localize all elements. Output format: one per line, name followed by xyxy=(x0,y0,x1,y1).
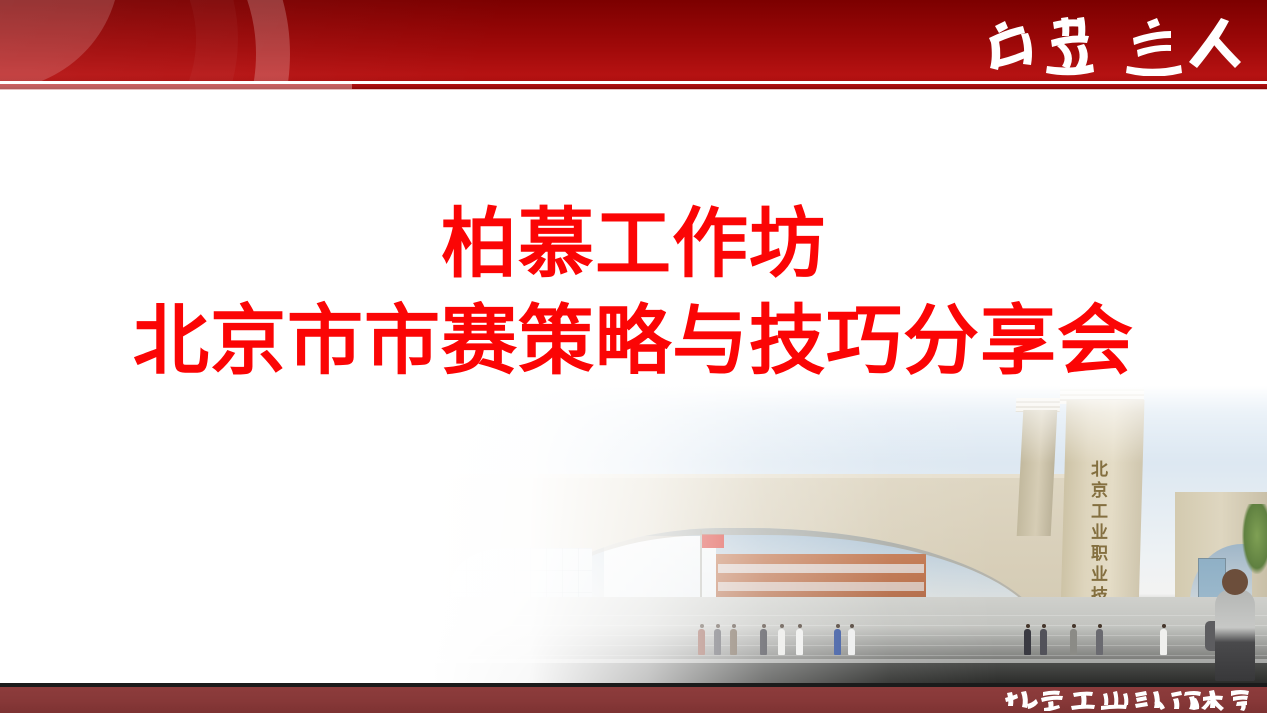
foreground-pedestrian xyxy=(1215,589,1255,681)
campus-gate-photo: 北京工业职业技术学院 xyxy=(430,386,1267,683)
pedestrian xyxy=(778,629,785,655)
pedestrian xyxy=(796,629,803,655)
pedestrian xyxy=(698,629,705,655)
pedestrian xyxy=(760,629,767,655)
pedestrian xyxy=(1040,629,1047,655)
building-window-row xyxy=(718,582,924,591)
tree xyxy=(1242,504,1267,574)
pedestrian xyxy=(834,629,841,655)
pedestrian xyxy=(730,629,737,655)
footer-band: 北京工业职业技术学院 xyxy=(0,687,1267,713)
presentation-slide: 尚艺立人 xyxy=(0,0,1267,713)
national-flag xyxy=(702,534,724,548)
pedestrian xyxy=(1024,629,1031,655)
slide-title-line-1: 柏慕工作坊 xyxy=(0,196,1267,292)
pedestrian xyxy=(1070,629,1077,655)
pedestrian xyxy=(1160,629,1167,655)
header-band: 尚艺立人 xyxy=(0,0,1267,81)
header-rule-hairline xyxy=(0,89,1267,90)
header-calligraphy-wordmark: 尚艺立人 xyxy=(981,8,1249,76)
pedestrian xyxy=(848,629,855,655)
secondary-pillar xyxy=(1017,410,1058,536)
footer-calligraphy-wordmark: 北京工业职业技术学院 xyxy=(1003,687,1253,713)
photo-canvas: 北京工业职业技术学院 xyxy=(430,386,1267,683)
pedestrian xyxy=(1096,629,1103,655)
title-block: 柏慕工作坊 北京市市赛策略与技巧分享会 xyxy=(0,196,1267,390)
building-window-row xyxy=(718,564,924,573)
slide-title-line-2: 北京市市赛策略与技巧分享会 xyxy=(0,292,1267,390)
pedestrian xyxy=(714,629,721,655)
road-asphalt xyxy=(430,663,1267,683)
